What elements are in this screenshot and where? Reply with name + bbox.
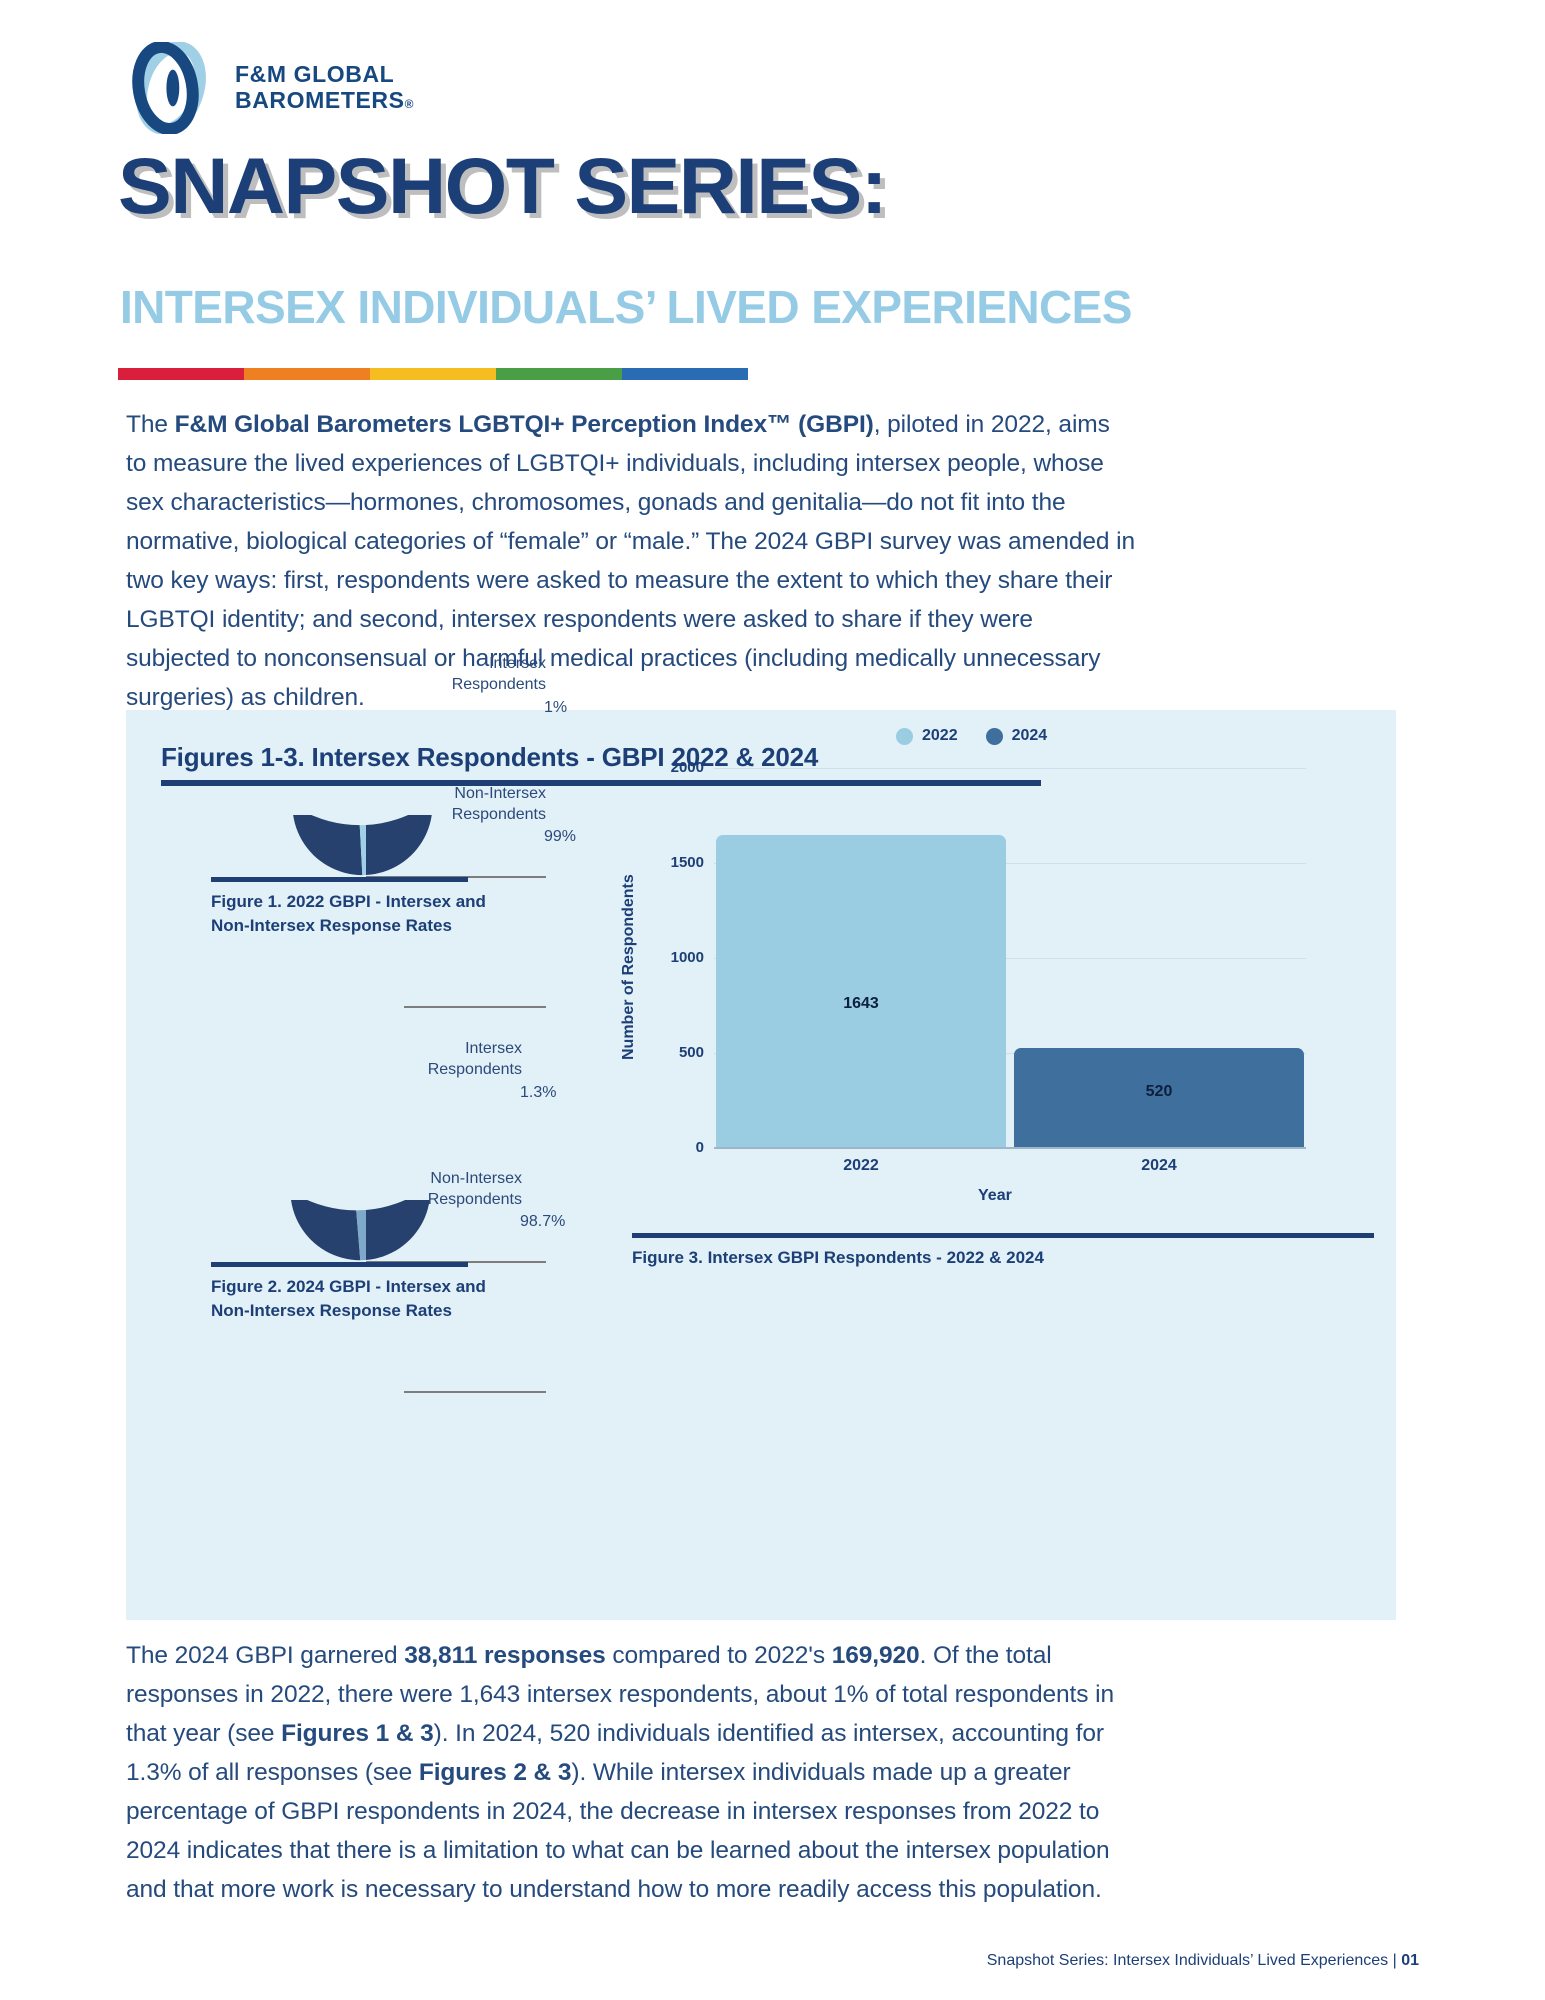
conclusion-s2: compared to 2022's — [606, 1642, 832, 1669]
figure-2-chart — [236, 1200, 496, 1460]
xtick-2022: 2022 — [716, 1157, 1006, 1175]
intro-pre: The — [126, 411, 175, 438]
figure-2-callout-nonintersex-pct: 98.7% — [520, 1211, 565, 1232]
conclusion-b2: 169,920 — [832, 1642, 920, 1669]
figure-2-callout-intersex-pct: 1.3% — [520, 1082, 556, 1103]
intro-paragraph: The F&M Global Barometers LGBTQI+ Percep… — [126, 405, 1136, 717]
rainbow-segment-4 — [622, 368, 748, 380]
bar-value-2022: 1643 — [716, 995, 1006, 1013]
figure-1-callout-nonintersex: Non-Intersex Respondents — [340, 783, 546, 825]
gridline-2000 — [714, 768, 1306, 769]
conclusion-s1: The 2024 GBPI garnered — [126, 1642, 404, 1669]
brand-line-2: BAROMETERS® — [235, 88, 414, 114]
rainbow-divider — [118, 368, 748, 380]
page-footer: Snapshot Series: Intersex Individuals’ L… — [987, 1952, 1419, 1970]
figure-2-callout-intersex: Intersex Respondents — [316, 1038, 522, 1080]
intro-bold: F&M Global Barometers LGBTQI+ Perception… — [175, 411, 874, 438]
intro-post: , piloted in 2022, aims to measure the l… — [126, 411, 1135, 711]
ytick-1500: 1500 — [646, 854, 704, 871]
figure-3-caption-rule — [632, 1233, 1374, 1238]
figure-1-callout-nonintersex-pct: 99% — [544, 826, 576, 847]
legend-item-2024: 2024 — [986, 727, 1048, 745]
brand-logo-text: F&M GLOBAL BAROMETERS® — [235, 62, 414, 114]
figure-3-legend: 2022 2024 — [896, 727, 1047, 745]
figure-2-caption-rule — [211, 1262, 468, 1267]
page-title: SNAPSHOT SERIES: — [118, 140, 886, 232]
ytick-0: 0 — [646, 1139, 704, 1156]
page-subtitle: INTERSEX INDIVIDUALS’ LIVED EXPERIENCES — [120, 280, 1132, 334]
conclusion-b4: Figures 2 & 3 — [419, 1759, 572, 1786]
conclusion-b1: 38,811 responses — [404, 1642, 605, 1669]
legend-label-2024: 2024 — [1012, 727, 1048, 745]
figure-3-x-axis-title: Year — [978, 1187, 1012, 1205]
rainbow-segment-2 — [370, 368, 496, 380]
bar-2022[interactable] — [716, 835, 1006, 1147]
document-page: F&M GLOBAL BAROMETERS® SNAPSHOT SERIES: … — [0, 0, 1545, 2000]
bar-value-2024: 520 — [1014, 1083, 1304, 1101]
rainbow-segment-1 — [244, 368, 370, 380]
legend-item-2022: 2022 — [896, 727, 958, 745]
rainbow-segment-0 — [118, 368, 244, 380]
figure-2-callout-nonintersex: Non-Intersex Respondents — [316, 1168, 522, 1210]
figure-3-chart: 2022 2024 2000 1500 1000 500 0 1643 — [606, 730, 1376, 1210]
conclusion-b3: Figures 1 & 3 — [281, 1720, 434, 1747]
ytick-1000: 1000 — [646, 949, 704, 966]
figure-3-baseline — [714, 1147, 1306, 1149]
figure-3-y-axis-title: Number of Respondents — [620, 874, 638, 1060]
registered-mark: ® — [405, 97, 414, 111]
footer-text: Snapshot Series: Intersex Individuals’ L… — [987, 1952, 1401, 1969]
legend-swatch-2024 — [986, 728, 1003, 745]
conclusion-paragraph: The 2024 GBPI garnered 38,811 responses … — [126, 1636, 1156, 1909]
legend-label-2022: 2022 — [922, 727, 958, 745]
figure-2-caption: Figure 2. 2024 GBPI - Intersex and Non-I… — [211, 1275, 511, 1323]
xtick-2024: 2024 — [1014, 1157, 1304, 1175]
footer-page-number: 01 — [1401, 1952, 1419, 1969]
fm-global-barometers-logo-icon — [125, 42, 217, 134]
figure-panel: Figures 1-3. Intersex Respondents - GBPI… — [126, 710, 1396, 1620]
figure-1-callout-intersex: Intersex Respondents — [340, 653, 546, 695]
figure-1-caption-rule — [211, 877, 468, 882]
brand-logo: F&M GLOBAL BAROMETERS® — [125, 42, 414, 134]
brand-line-1: F&M GLOBAL — [235, 62, 414, 88]
figure-3-caption: Figure 3. Intersex GBPI Respondents - 20… — [632, 1246, 1044, 1270]
rainbow-segment-3 — [496, 368, 622, 380]
ytick-2000: 2000 — [646, 759, 704, 776]
figure-2-leader-lines — [364, 1200, 694, 1460]
ytick-500: 500 — [646, 1044, 704, 1061]
figure-1-callout-intersex-pct: 1% — [544, 697, 567, 718]
legend-swatch-2022 — [896, 728, 913, 745]
figure-1-caption: Figure 1. 2022 GBPI - Intersex and Non-I… — [211, 890, 511, 938]
figure-1-chart — [236, 815, 496, 1075]
